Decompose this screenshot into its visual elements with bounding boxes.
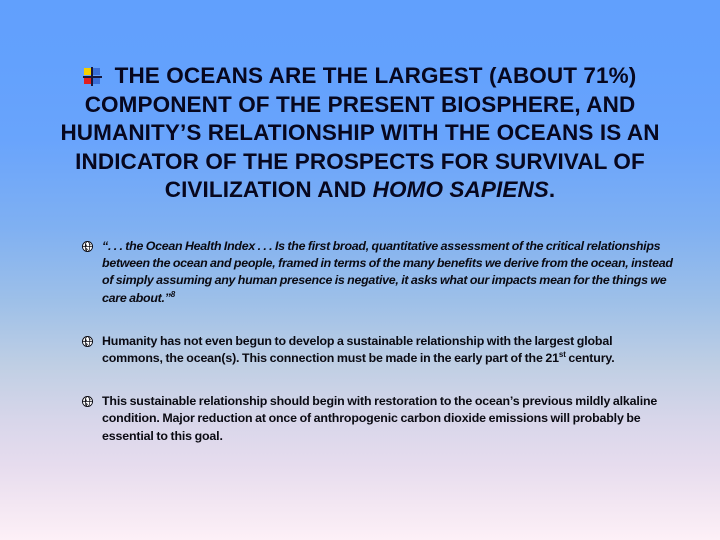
list-item: Humanity has not even begun to develop a… [82, 333, 674, 367]
slide-body: “. . . the Ocean Health Index . . . Is t… [82, 238, 674, 445]
paragraph-part-1: Humanity has not even begun to develop a… [102, 334, 612, 365]
title-line-1: THE OCEANS ARE THE LARGEST (ABOUT 71%) [115, 63, 637, 88]
ordinal-suffix: st [559, 350, 566, 359]
list-item-text: Humanity has not even begun to develop a… [102, 333, 674, 367]
list-item-text: This sustainable relationship should beg… [102, 393, 674, 445]
quote-body: “. . . the Ocean Health Index . . . Is t… [102, 239, 673, 305]
title-line-2: COMPONENT OF THE PRESENT BIOSPHERE, AND [85, 92, 636, 117]
slide-title: THE OCEANS ARE THE LARGEST (ABOUT 71%) C… [46, 62, 674, 205]
globe-icon [82, 336, 93, 347]
paragraph-part-2: century. [566, 351, 615, 365]
list-item: “. . . the Ocean Health Index . . . Is t… [82, 238, 674, 307]
title-line-5-italic: HOMO SAPIENS [373, 177, 549, 202]
title-line-3: HUMANITY’S RELATIONSHIP WITH THE OCEANS … [60, 120, 621, 145]
icon-horizontal-bar [83, 76, 102, 78]
title-line-5-suffix: . [549, 177, 555, 202]
icon-quadrant-red [84, 77, 91, 84]
icon-quadrant-blue-bottom [93, 77, 100, 84]
list-item: This sustainable relationship should beg… [82, 393, 674, 445]
globe-icon [82, 241, 93, 252]
globe-icon [82, 396, 93, 407]
icon-quadrant-blue-top [93, 68, 100, 75]
footnote-marker: 8 [171, 289, 175, 298]
presentation-slide: THE OCEANS ARE THE LARGEST (ABOUT 71%) C… [0, 0, 720, 540]
icon-quadrant-yellow [84, 68, 91, 75]
list-item-text: “. . . the Ocean Health Index . . . Is t… [102, 238, 674, 307]
four-color-squares-icon [84, 68, 101, 85]
